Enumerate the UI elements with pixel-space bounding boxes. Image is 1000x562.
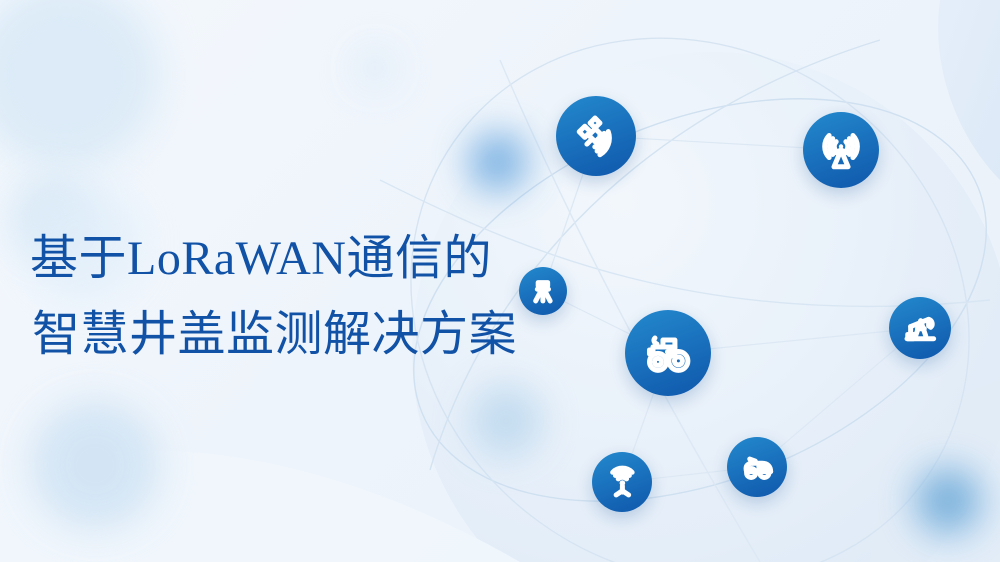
connector-lines xyxy=(543,136,920,482)
page-title-line-1: 基于LoRaWAN通信的 xyxy=(30,228,590,290)
slide-canvas: 基于LoRaWAN通信的 智慧井盖监测解决方案 xyxy=(0,0,1000,562)
badge-wireless-sensor[interactable] xyxy=(592,452,652,512)
accent-dot-8 xyxy=(355,48,395,88)
corner-blob-bottom-right xyxy=(870,380,1000,562)
tractor-icon xyxy=(643,328,693,378)
radio-tower-icon xyxy=(819,128,863,172)
badge-satellite-signal[interactable] xyxy=(556,96,636,176)
connector-g xyxy=(757,328,920,467)
corner-blob-top-right xyxy=(938,0,1000,180)
accent-dot-5 xyxy=(468,132,528,192)
badge-radio-tower[interactable] xyxy=(803,112,879,188)
badge-oil-pumpjack[interactable] xyxy=(889,297,951,359)
badge-tractor[interactable] xyxy=(625,310,711,396)
oil-pumpjack-icon xyxy=(902,310,938,346)
title-block: 基于LoRaWAN通信的 智慧井盖监测解决方案 xyxy=(30,228,590,366)
robot-mower-icon xyxy=(740,450,775,485)
accent-dot-7 xyxy=(915,468,981,534)
page-title-line-2: 智慧井盖监测解决方案 xyxy=(32,304,590,366)
badge-robot-mower[interactable] xyxy=(727,437,787,497)
accent-dot-1 xyxy=(0,0,160,170)
wireless-sensor-icon xyxy=(605,465,640,500)
satellite-signal-icon xyxy=(573,113,619,159)
background-band xyxy=(0,450,520,562)
accent-dot-4 xyxy=(30,400,160,530)
accent-dot-6 xyxy=(470,385,542,457)
